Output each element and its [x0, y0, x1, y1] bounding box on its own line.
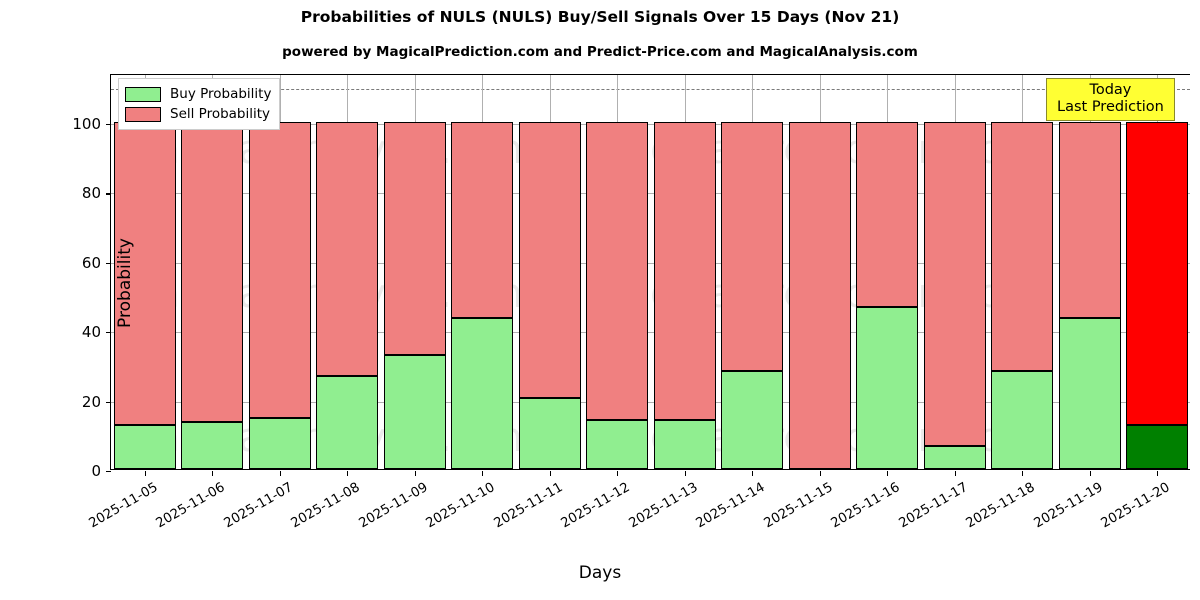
x-tick-mark — [685, 471, 686, 476]
legend-swatch-sell — [125, 107, 161, 122]
x-tick-mark — [1022, 471, 1023, 476]
bar-segment-sell[interactable] — [991, 122, 1053, 371]
bar-group[interactable] — [451, 75, 513, 469]
y-tick-label-60: 60 — [41, 254, 101, 272]
bar-segment-sell[interactable] — [249, 122, 311, 418]
y-tick-mark — [106, 402, 111, 403]
chart-subtitle: powered by MagicalPrediction.com and Pre… — [0, 44, 1200, 60]
bar-segment-buy[interactable] — [249, 418, 311, 469]
legend-swatch-buy — [125, 87, 161, 102]
bar-group[interactable] — [249, 75, 311, 469]
bar-segment-sell[interactable] — [316, 122, 378, 376]
bar-segment-sell[interactable] — [519, 122, 581, 398]
bar-segment-buy[interactable] — [181, 422, 243, 469]
bar-group[interactable] — [856, 75, 918, 469]
bar-segment-sell[interactable] — [1059, 122, 1121, 318]
y-tick-mark — [106, 471, 111, 472]
bar-group[interactable] — [1126, 75, 1188, 469]
x-tick-mark — [955, 471, 956, 476]
bar-segment-sell[interactable] — [789, 122, 851, 469]
bar-segment-sell[interactable] — [1126, 122, 1188, 425]
plot-area: MagicalAnalysis.comMagicalPrediction.com… — [110, 74, 1190, 470]
legend-label-sell: Sell Probability — [170, 106, 270, 122]
bar-segment-sell[interactable] — [924, 122, 986, 446]
y-tick-mark — [106, 193, 111, 194]
bar-segment-sell[interactable] — [384, 122, 446, 355]
bar-segment-buy[interactable] — [721, 371, 783, 469]
bar-group[interactable] — [654, 75, 716, 469]
y-tick-label-0: 0 — [41, 462, 101, 480]
y-tick-mark — [106, 124, 111, 125]
legend-item-buy: Buy Probability — [125, 84, 271, 104]
today-annotation-line1: Today — [1057, 82, 1164, 99]
bar-segment-buy[interactable] — [586, 420, 648, 469]
y-axis-label: Probability — [115, 83, 135, 483]
bar-segment-buy[interactable] — [991, 371, 1053, 469]
x-tick-mark — [1090, 471, 1091, 476]
y-tick-label-80: 80 — [41, 184, 101, 202]
bar-segment-buy[interactable] — [924, 446, 986, 469]
x-axis-label: Days — [0, 563, 1200, 583]
x-tick-mark — [550, 471, 551, 476]
bar-group[interactable] — [384, 75, 446, 469]
x-tick-mark — [415, 471, 416, 476]
bar-group[interactable] — [789, 75, 851, 469]
y-tick-label-100: 100 — [41, 115, 101, 133]
bar-segment-buy[interactable] — [519, 398, 581, 469]
x-tick-mark — [280, 471, 281, 476]
x-tick-mark — [347, 471, 348, 476]
bar-segment-buy[interactable] — [451, 318, 513, 469]
bar-group[interactable] — [721, 75, 783, 469]
chart-title: Probabilities of NULS (NULS) Buy/Sell Si… — [0, 8, 1200, 26]
bar-segment-buy[interactable] — [1126, 425, 1188, 469]
bar-segment-sell[interactable] — [586, 122, 648, 420]
x-tick-mark — [887, 471, 888, 476]
plot-clip: MagicalAnalysis.comMagicalPrediction.com… — [111, 75, 1190, 469]
x-tick-mark — [145, 471, 146, 476]
bar-group[interactable] — [991, 75, 1053, 469]
bar-segment-buy[interactable] — [654, 420, 716, 469]
bar-segment-buy[interactable] — [1059, 318, 1121, 469]
y-tick-label-40: 40 — [41, 323, 101, 341]
x-tick-mark — [820, 471, 821, 476]
bar-group[interactable] — [181, 75, 243, 469]
bar-segment-buy[interactable] — [316, 376, 378, 469]
legend-label-buy: Buy Probability — [170, 86, 271, 102]
today-annotation: Today Last Prediction — [1046, 78, 1175, 121]
y-tick-mark — [106, 263, 111, 264]
x-tick-mark — [212, 471, 213, 476]
bar-group[interactable] — [519, 75, 581, 469]
x-tick-mark — [482, 471, 483, 476]
legend-item-sell: Sell Probability — [125, 104, 271, 124]
bar-segment-sell[interactable] — [856, 122, 918, 307]
bar-segment-sell[interactable] — [721, 122, 783, 371]
bar-group[interactable] — [316, 75, 378, 469]
bar-group[interactable] — [586, 75, 648, 469]
x-tick-mark — [617, 471, 618, 476]
bar-segment-buy[interactable] — [384, 355, 446, 469]
chart-legend: Buy Probability Sell Probability — [118, 78, 280, 130]
bar-group[interactable] — [924, 75, 986, 469]
bar-segment-sell[interactable] — [181, 122, 243, 422]
y-tick-label-20: 20 — [41, 393, 101, 411]
bar-segment-buy[interactable] — [856, 307, 918, 469]
today-annotation-line2: Last Prediction — [1057, 99, 1164, 116]
chart-figure: Probabilities of NULS (NULS) Buy/Sell Si… — [0, 0, 1200, 600]
bar-group[interactable] — [1059, 75, 1121, 469]
bar-segment-sell[interactable] — [451, 122, 513, 318]
x-tick-mark — [752, 471, 753, 476]
y-tick-mark — [106, 332, 111, 333]
bar-segment-sell[interactable] — [654, 122, 716, 420]
x-tick-mark — [1157, 471, 1158, 476]
